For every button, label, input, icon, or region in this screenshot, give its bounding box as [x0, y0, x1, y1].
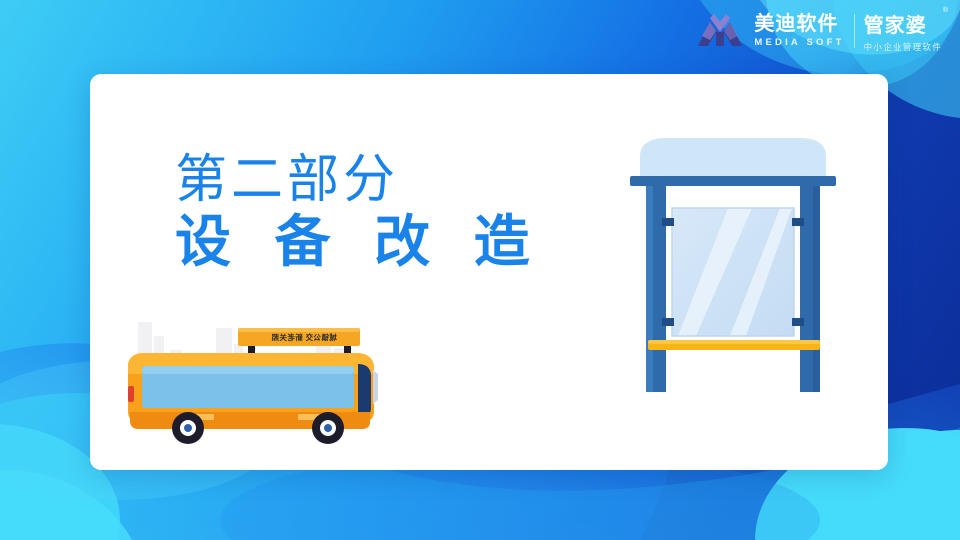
logo-product-cn-text: 管家婆 [864, 15, 927, 37]
section-title-line1: 第二部分 [175, 152, 544, 208]
content-card: 第二部分 设 备 改 造 [90, 74, 888, 470]
section-title: 第二部分 设 备 改 造 [175, 152, 544, 274]
media-soft-mark-icon [696, 14, 744, 48]
brand-logo: 美迪软件 MEDIA SOFT 管家婆® 中小企业管理软件 [696, 8, 942, 54]
registered-trademark-icon: ® [943, 7, 949, 14]
logo-brand-cn: 美迪软件 [754, 14, 844, 35]
logo-brand-en: MEDIA SOFT [754, 37, 844, 48]
section-title-line2: 设 备 改 造 [175, 210, 544, 274]
logo-product-cn: 管家婆® [864, 9, 942, 38]
slide-root: 美迪软件 MEDIA SOFT 管家婆® 中小企业管理软件 第二部分 设 备 改… [0, 0, 960, 540]
bus-shelter-illustration [618, 136, 848, 396]
logo-product-tagline: 中小企业管理软件 [864, 41, 942, 53]
logo-divider [854, 14, 855, 48]
bus-illustration: 城镇公交 新老关照 [120, 304, 410, 454]
